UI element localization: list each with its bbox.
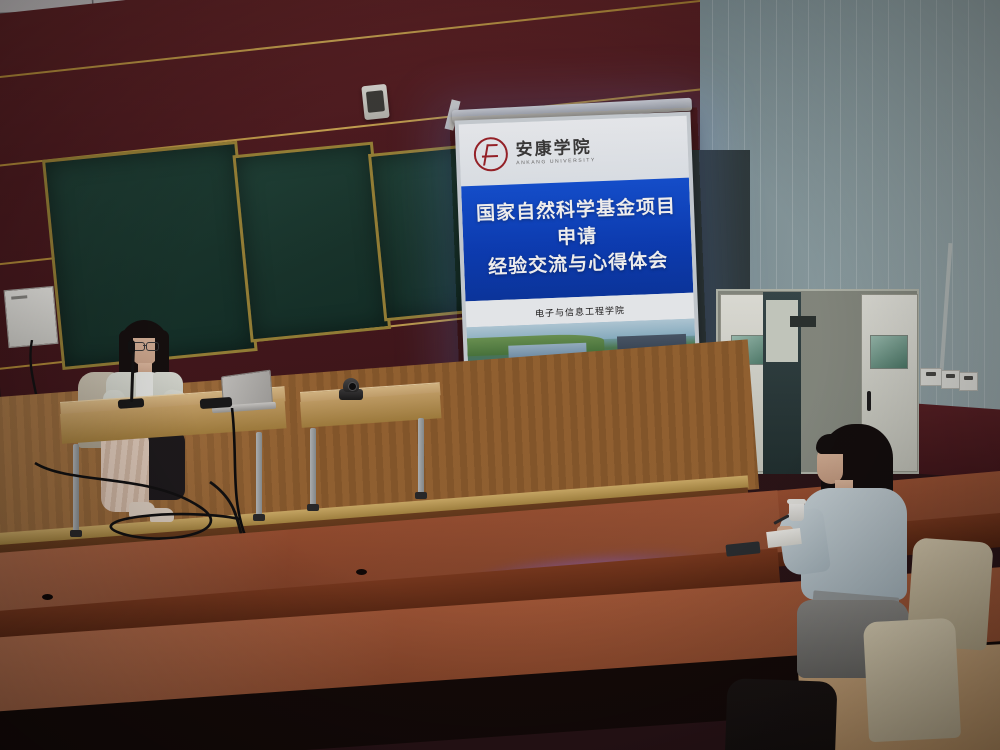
university-logo-icon <box>473 137 508 172</box>
paper-cup[interactable] <box>789 502 804 521</box>
light-switch-panel-2[interactable] <box>941 370 960 389</box>
wall-control-box[interactable] <box>4 286 59 348</box>
microphone-head-icon <box>128 340 135 354</box>
university-name-cn: 安康学院 <box>515 138 595 158</box>
door-window-right <box>870 335 908 369</box>
chair-back-2[interactable] <box>863 618 961 743</box>
slide-title-block: 国家自然科学基金项目申请 经验交流与心得体会 <box>461 178 693 302</box>
light-switch-panel-3[interactable] <box>959 372 978 391</box>
light-switch-panel-1[interactable] <box>920 368 942 386</box>
university-name-en: ANKANG UNIVERSITY <box>516 158 596 166</box>
lecture-hall-photo: 安康学院 ANKANG UNIVERSITY 国家自然科学基金项目申请 经验交流… <box>0 0 1000 750</box>
desk-grommet <box>42 594 53 600</box>
slide-header: 安康学院 ANKANG UNIVERSITY <box>459 116 689 187</box>
slide-subtitle: 电子与信息工程学院 <box>535 305 625 318</box>
presenter-glasses-bridge <box>143 345 146 346</box>
cup-lid <box>787 499 806 504</box>
desk-grommet-2 <box>356 569 367 575</box>
presenter-glasses-right <box>146 342 159 351</box>
door-handle-right[interactable] <box>867 391 871 411</box>
conference-camera <box>339 378 363 400</box>
wall-speaker-icon <box>361 84 389 120</box>
chalkboard-panel-2 <box>232 142 391 343</box>
inner-door-panel <box>766 300 798 362</box>
attendee-hair-fringe <box>816 434 856 454</box>
door-sign-plate <box>790 316 816 327</box>
chair-back-3[interactable] <box>724 678 837 750</box>
slide-title-line1: 国家自然科学基金项目申请 <box>468 194 686 256</box>
